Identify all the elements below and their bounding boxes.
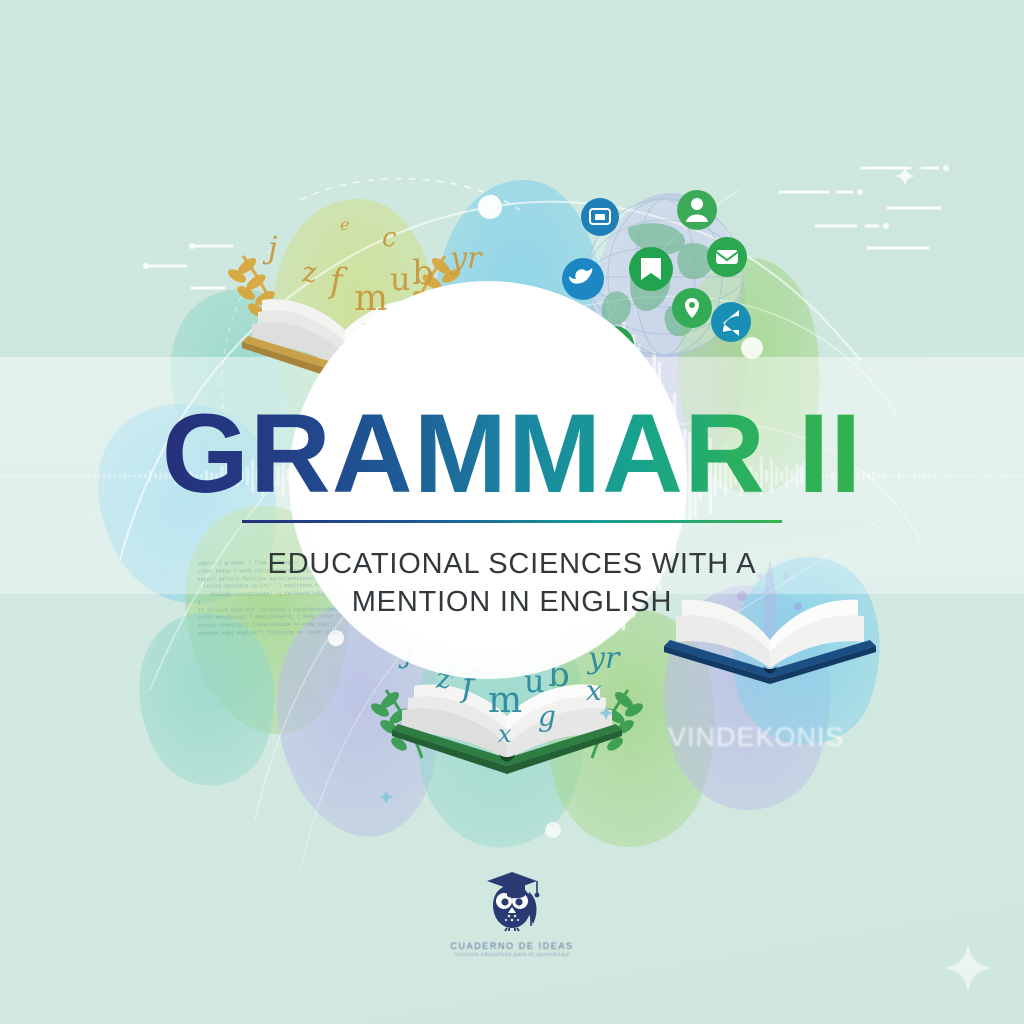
sparkles (0, 0, 1024, 1024)
sparkle-bottom-right (944, 944, 992, 992)
sparkle-top-right (895, 166, 915, 186)
course-cover-graphic: j z f m u b yr x c g x e (0, 0, 1024, 1024)
